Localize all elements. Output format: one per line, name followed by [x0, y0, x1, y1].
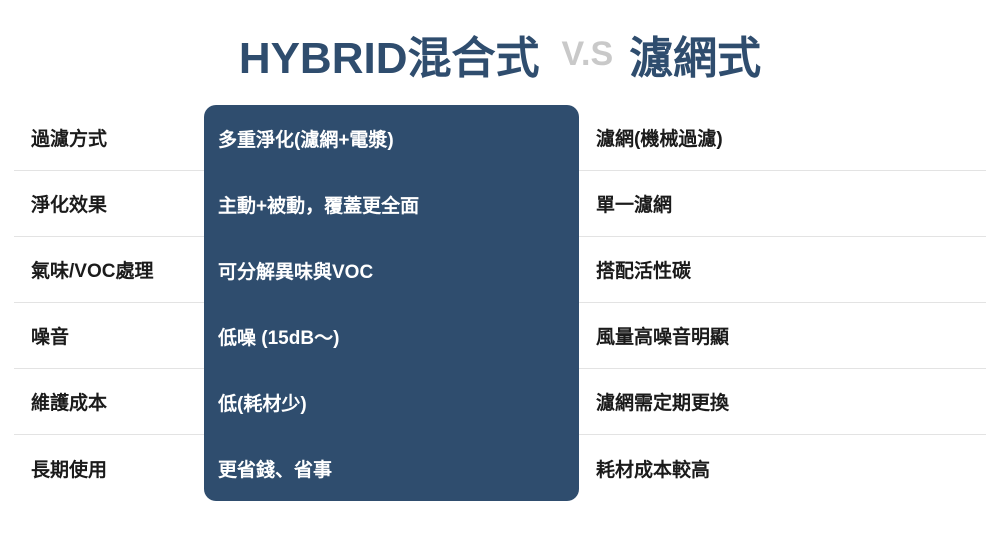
- row-label: 淨化效果: [14, 171, 204, 237]
- comparison-infographic: HYBRID混合式V.S濾網式 過濾方式 多重淨化(濾網+電漿) 濾網(機械過濾…: [0, 0, 1000, 544]
- title-hybrid: HYBRID混合式: [239, 34, 540, 83]
- row-label: 維護成本: [14, 369, 204, 435]
- table-row: 淨化效果 主動+被動，覆蓋更全面 單一濾網: [14, 171, 986, 237]
- row-filter-value: 濾網(機械過濾): [579, 105, 986, 171]
- row-filter-value: 濾網需定期更換: [579, 369, 986, 435]
- table-row: 長期使用 更省錢、省事 耗材成本較高: [14, 435, 986, 501]
- table-row: 氣味/VOC處理 可分解異味與VOC 搭配活性碳: [14, 237, 986, 303]
- row-hybrid-value: 低噪 (15dB〜): [204, 303, 579, 369]
- table-row: 維護成本 低(耗材少) 濾網需定期更換: [14, 369, 986, 435]
- row-filter-value: 搭配活性碳: [579, 237, 986, 303]
- row-filter-value: 耗材成本較高: [579, 435, 986, 501]
- page-title: HYBRID混合式V.S濾網式: [0, 22, 1000, 86]
- title-vs-separator: V.S: [562, 35, 614, 73]
- row-label: 長期使用: [14, 435, 204, 501]
- table-row: 噪音 低噪 (15dB〜) 風量高噪音明顯: [14, 303, 986, 369]
- comparison-table: 過濾方式 多重淨化(濾網+電漿) 濾網(機械過濾) 淨化效果 主動+被動，覆蓋更…: [14, 105, 986, 501]
- row-label: 噪音: [14, 303, 204, 369]
- row-filter-value: 單一濾網: [579, 171, 986, 237]
- row-hybrid-value: 更省錢、省事: [204, 435, 579, 501]
- table-row: 過濾方式 多重淨化(濾網+電漿) 濾網(機械過濾): [14, 105, 986, 171]
- row-hybrid-value: 主動+被動，覆蓋更全面: [204, 171, 579, 237]
- title-filter: 濾網式: [629, 34, 761, 83]
- row-hybrid-value: 可分解異味與VOC: [204, 237, 579, 303]
- row-hybrid-value: 低(耗材少): [204, 369, 579, 435]
- row-hybrid-value: 多重淨化(濾網+電漿): [204, 105, 579, 171]
- row-label: 過濾方式: [14, 105, 204, 171]
- row-label: 氣味/VOC處理: [14, 237, 204, 303]
- row-filter-value: 風量高噪音明顯: [579, 303, 986, 369]
